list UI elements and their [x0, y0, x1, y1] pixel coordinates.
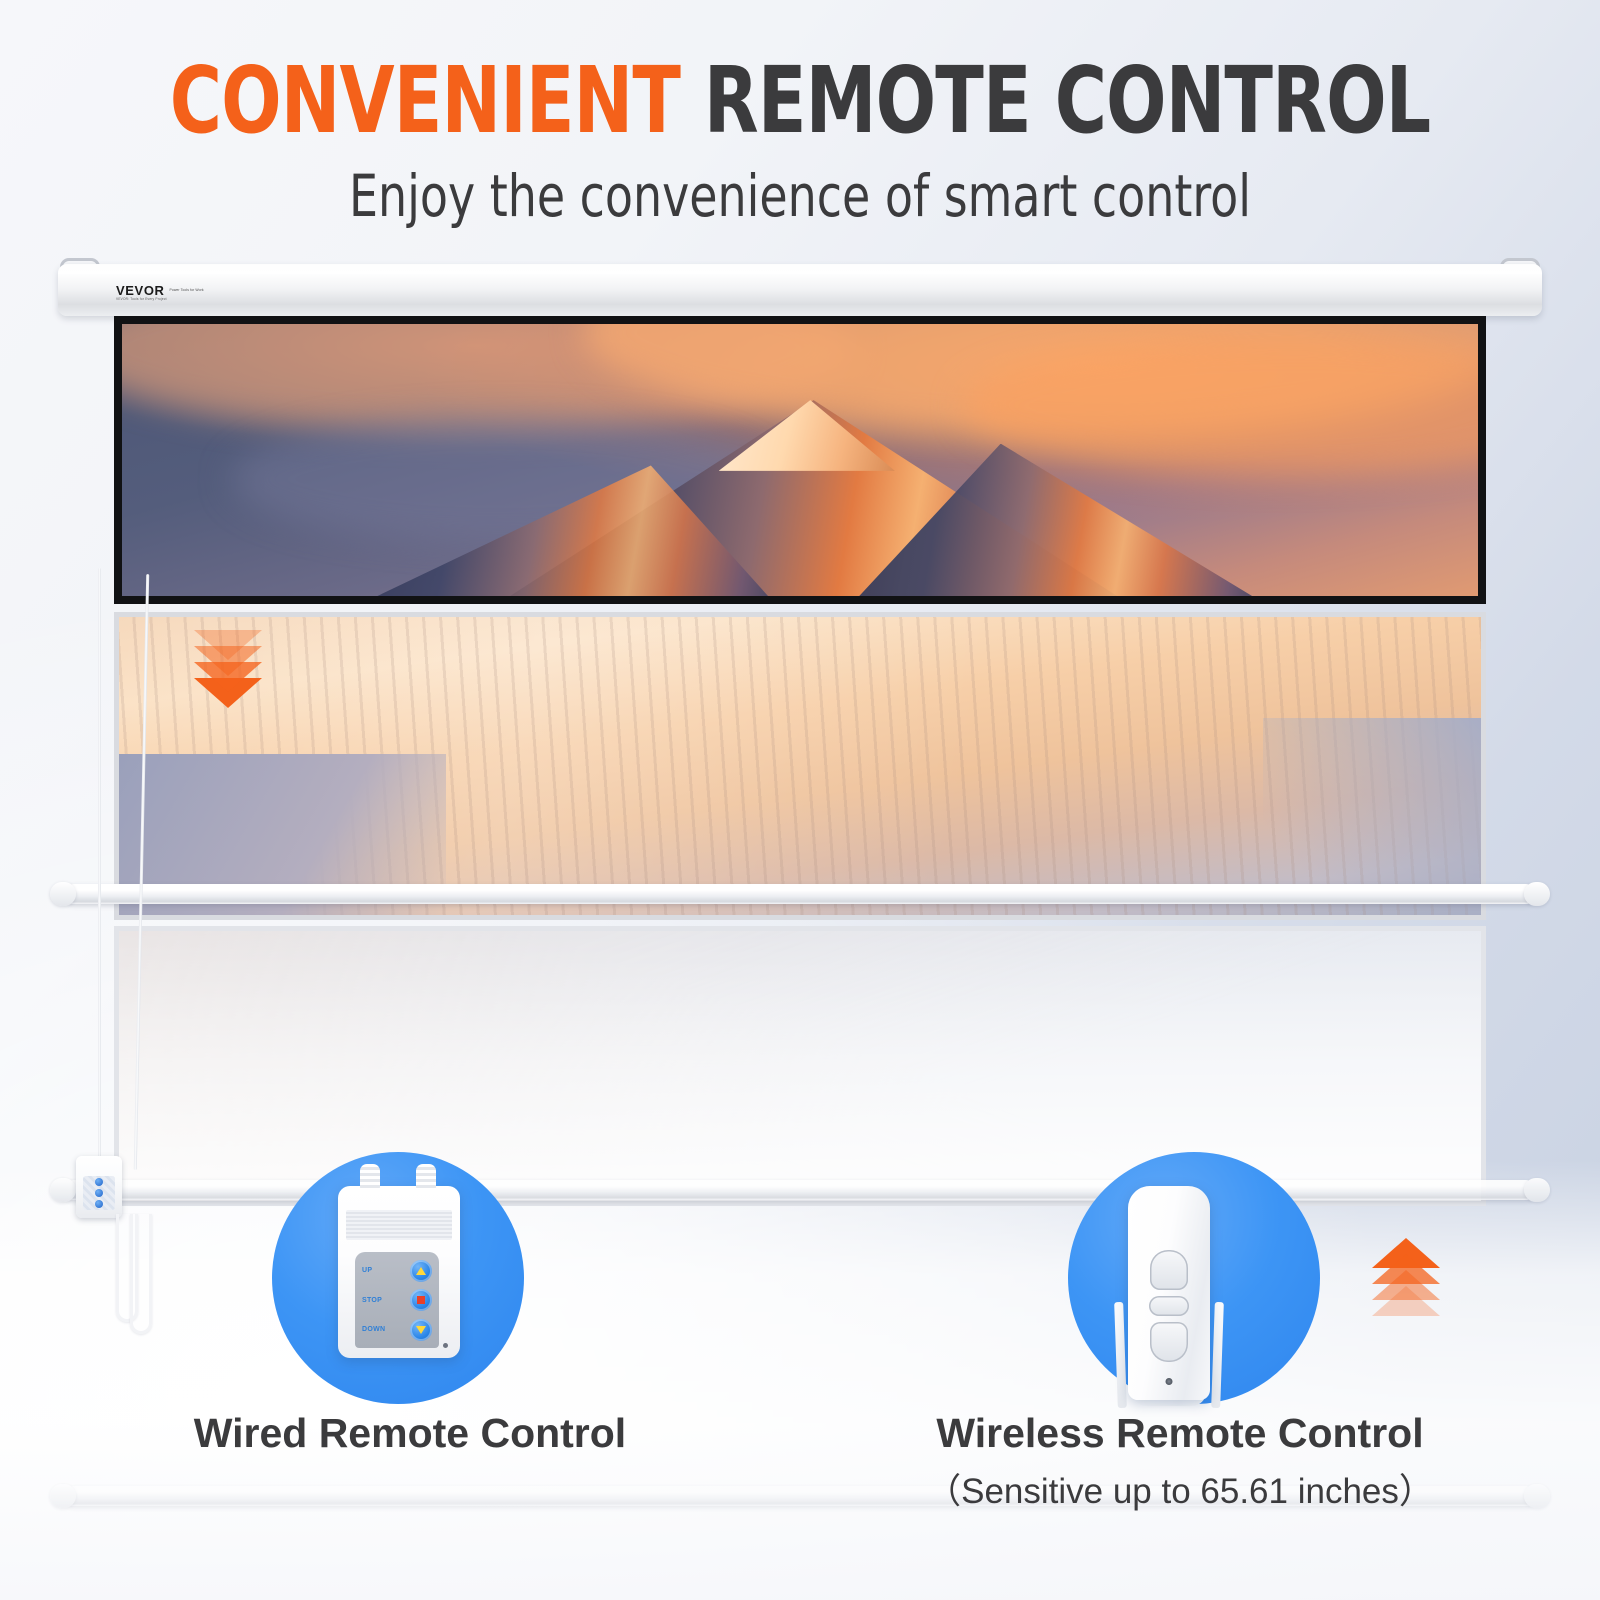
bar-end-cap	[1524, 1484, 1550, 1508]
brand-tagline-secondary: VEVOR: Tools for Every Project	[116, 297, 167, 301]
screen-lowering-arrows-icon	[194, 630, 262, 694]
chevron-up-icon	[1372, 1286, 1440, 1316]
wireless-remote-caption: Wireless Remote Control	[880, 1410, 1480, 1457]
cable-gland	[360, 1164, 380, 1190]
wired-remote-led	[443, 1343, 448, 1348]
cable-gland	[416, 1164, 436, 1190]
wireless-button-down[interactable]	[1150, 1322, 1188, 1362]
wired-key-row-stop[interactable]: STOP	[355, 1289, 439, 1311]
bar-end-cap	[50, 1484, 76, 1508]
mid-fabric-panel	[114, 612, 1486, 920]
screen-raising-arrows-icon	[1372, 1238, 1440, 1302]
projector-screen-assembly: VEVOR Power Tools for Work VEVOR: Tools …	[42, 258, 1558, 1268]
projected-image-panel	[114, 316, 1486, 604]
brand-logo: VEVOR Power Tools for Work VEVOR: Tools …	[116, 284, 226, 297]
wireless-remote-device[interactable]	[1128, 1186, 1210, 1400]
poster-background: CONVENIENT REMOTE CONTROL Enjoy the conv…	[0, 0, 1600, 1600]
wireless-remote-led	[1166, 1378, 1173, 1385]
bar-end-cap	[50, 882, 76, 906]
wired-remote-keypad[interactable]: UP STOP DOWN	[355, 1252, 439, 1348]
wired-remote-caption: Wired Remote Control	[120, 1410, 700, 1457]
triangle-down-icon	[416, 1326, 426, 1334]
clip-leg-left	[1114, 1302, 1127, 1408]
wireless-remote-range-note: （Sensitive up to 65.61 inches）	[880, 1463, 1480, 1514]
ghosted-fabric-panel	[114, 926, 1486, 1206]
wired-key-label-stop: STOP	[362, 1297, 382, 1304]
bar-end-cap	[1524, 882, 1550, 906]
page-title: CONVENIENT REMOTE CONTROL	[112, 54, 1488, 148]
wireless-button-stop[interactable]	[1149, 1296, 1189, 1316]
screen-fabric	[114, 316, 1486, 1206]
clip-leg-right	[1211, 1302, 1224, 1408]
triangle-up-icon	[416, 1267, 426, 1275]
control-box-button-up[interactable]	[95, 1178, 103, 1186]
bar-end-cap	[1524, 1178, 1550, 1202]
wall-mounted-control-box[interactable]	[76, 1156, 122, 1218]
control-box-keypad[interactable]	[83, 1176, 115, 1210]
headline-block: CONVENIENT REMOTE CONTROL Enjoy the conv…	[0, 54, 1600, 230]
coiled-cable	[114, 1214, 160, 1334]
headline-rest: REMOTE CONTROL	[704, 47, 1430, 154]
cable-loop-strand	[130, 1214, 152, 1334]
chevron-down-icon	[194, 662, 262, 692]
screen-casing: VEVOR Power Tools for Work VEVOR: Tools …	[58, 264, 1542, 316]
brand-name: VEVOR	[116, 284, 165, 297]
brand-tagline: Power Tools for Work	[170, 288, 226, 292]
weight-bar-upper	[64, 884, 1536, 904]
wired-key-label-down: DOWN	[362, 1326, 385, 1333]
control-box-button-down[interactable]	[95, 1200, 103, 1208]
control-cable	[98, 568, 101, 1158]
page-subtitle: Enjoy the convenience of smart control	[96, 162, 1504, 230]
headline-emphasis: CONVENIENT	[170, 47, 680, 154]
square-stop-icon	[417, 1296, 425, 1304]
wired-key-down[interactable]	[410, 1319, 432, 1341]
device-vents	[346, 1210, 452, 1240]
control-box-button-stop[interactable]	[95, 1189, 103, 1197]
wired-remote-callout: Wired Remote Control	[120, 1410, 700, 1457]
ghost-fade-overlay	[119, 931, 1481, 1201]
wired-remote-device[interactable]: UP STOP DOWN	[338, 1186, 460, 1358]
wired-key-stop[interactable]	[410, 1289, 432, 1311]
wired-key-up[interactable]	[410, 1260, 432, 1282]
wireless-button-up[interactable]	[1150, 1250, 1188, 1290]
weight-bar-middle	[64, 1180, 1536, 1200]
wired-key-label-up: UP	[362, 1267, 372, 1274]
wired-key-row-down[interactable]: DOWN	[355, 1319, 439, 1341]
bar-end-cap	[50, 1178, 76, 1202]
wired-key-row-up[interactable]: UP	[355, 1260, 439, 1282]
wireless-remote-callout: Wireless Remote Control （Sensitive up to…	[880, 1410, 1480, 1514]
